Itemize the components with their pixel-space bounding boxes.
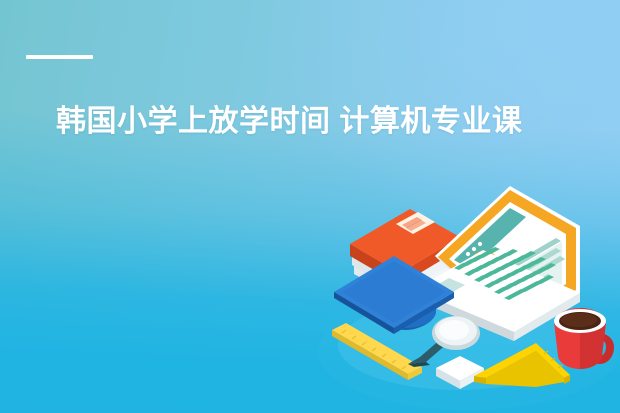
study-desk-illustration-svg: 等距风格学习桌面插画：笔记本电脑、书籍、学士帽、直尺、放大镜、橡皮、三角尺与咖啡… bbox=[318, 180, 620, 413]
article-cover-banner: 韩国小学上放学时间 计算机专业课 等距风格学习桌面插画：笔记本电脑、书籍、学士帽… bbox=[0, 0, 620, 413]
page-title: 韩国小学上放学时间 计算机专业课 bbox=[56, 102, 596, 142]
study-desk-illustration: 等距风格学习桌面插画：笔记本电脑、书籍、学士帽、直尺、放大镜、橡皮、三角尺与咖啡… bbox=[318, 180, 620, 413]
coffee-mug-icon bbox=[554, 308, 614, 369]
title-accent-rule bbox=[26, 55, 93, 59]
